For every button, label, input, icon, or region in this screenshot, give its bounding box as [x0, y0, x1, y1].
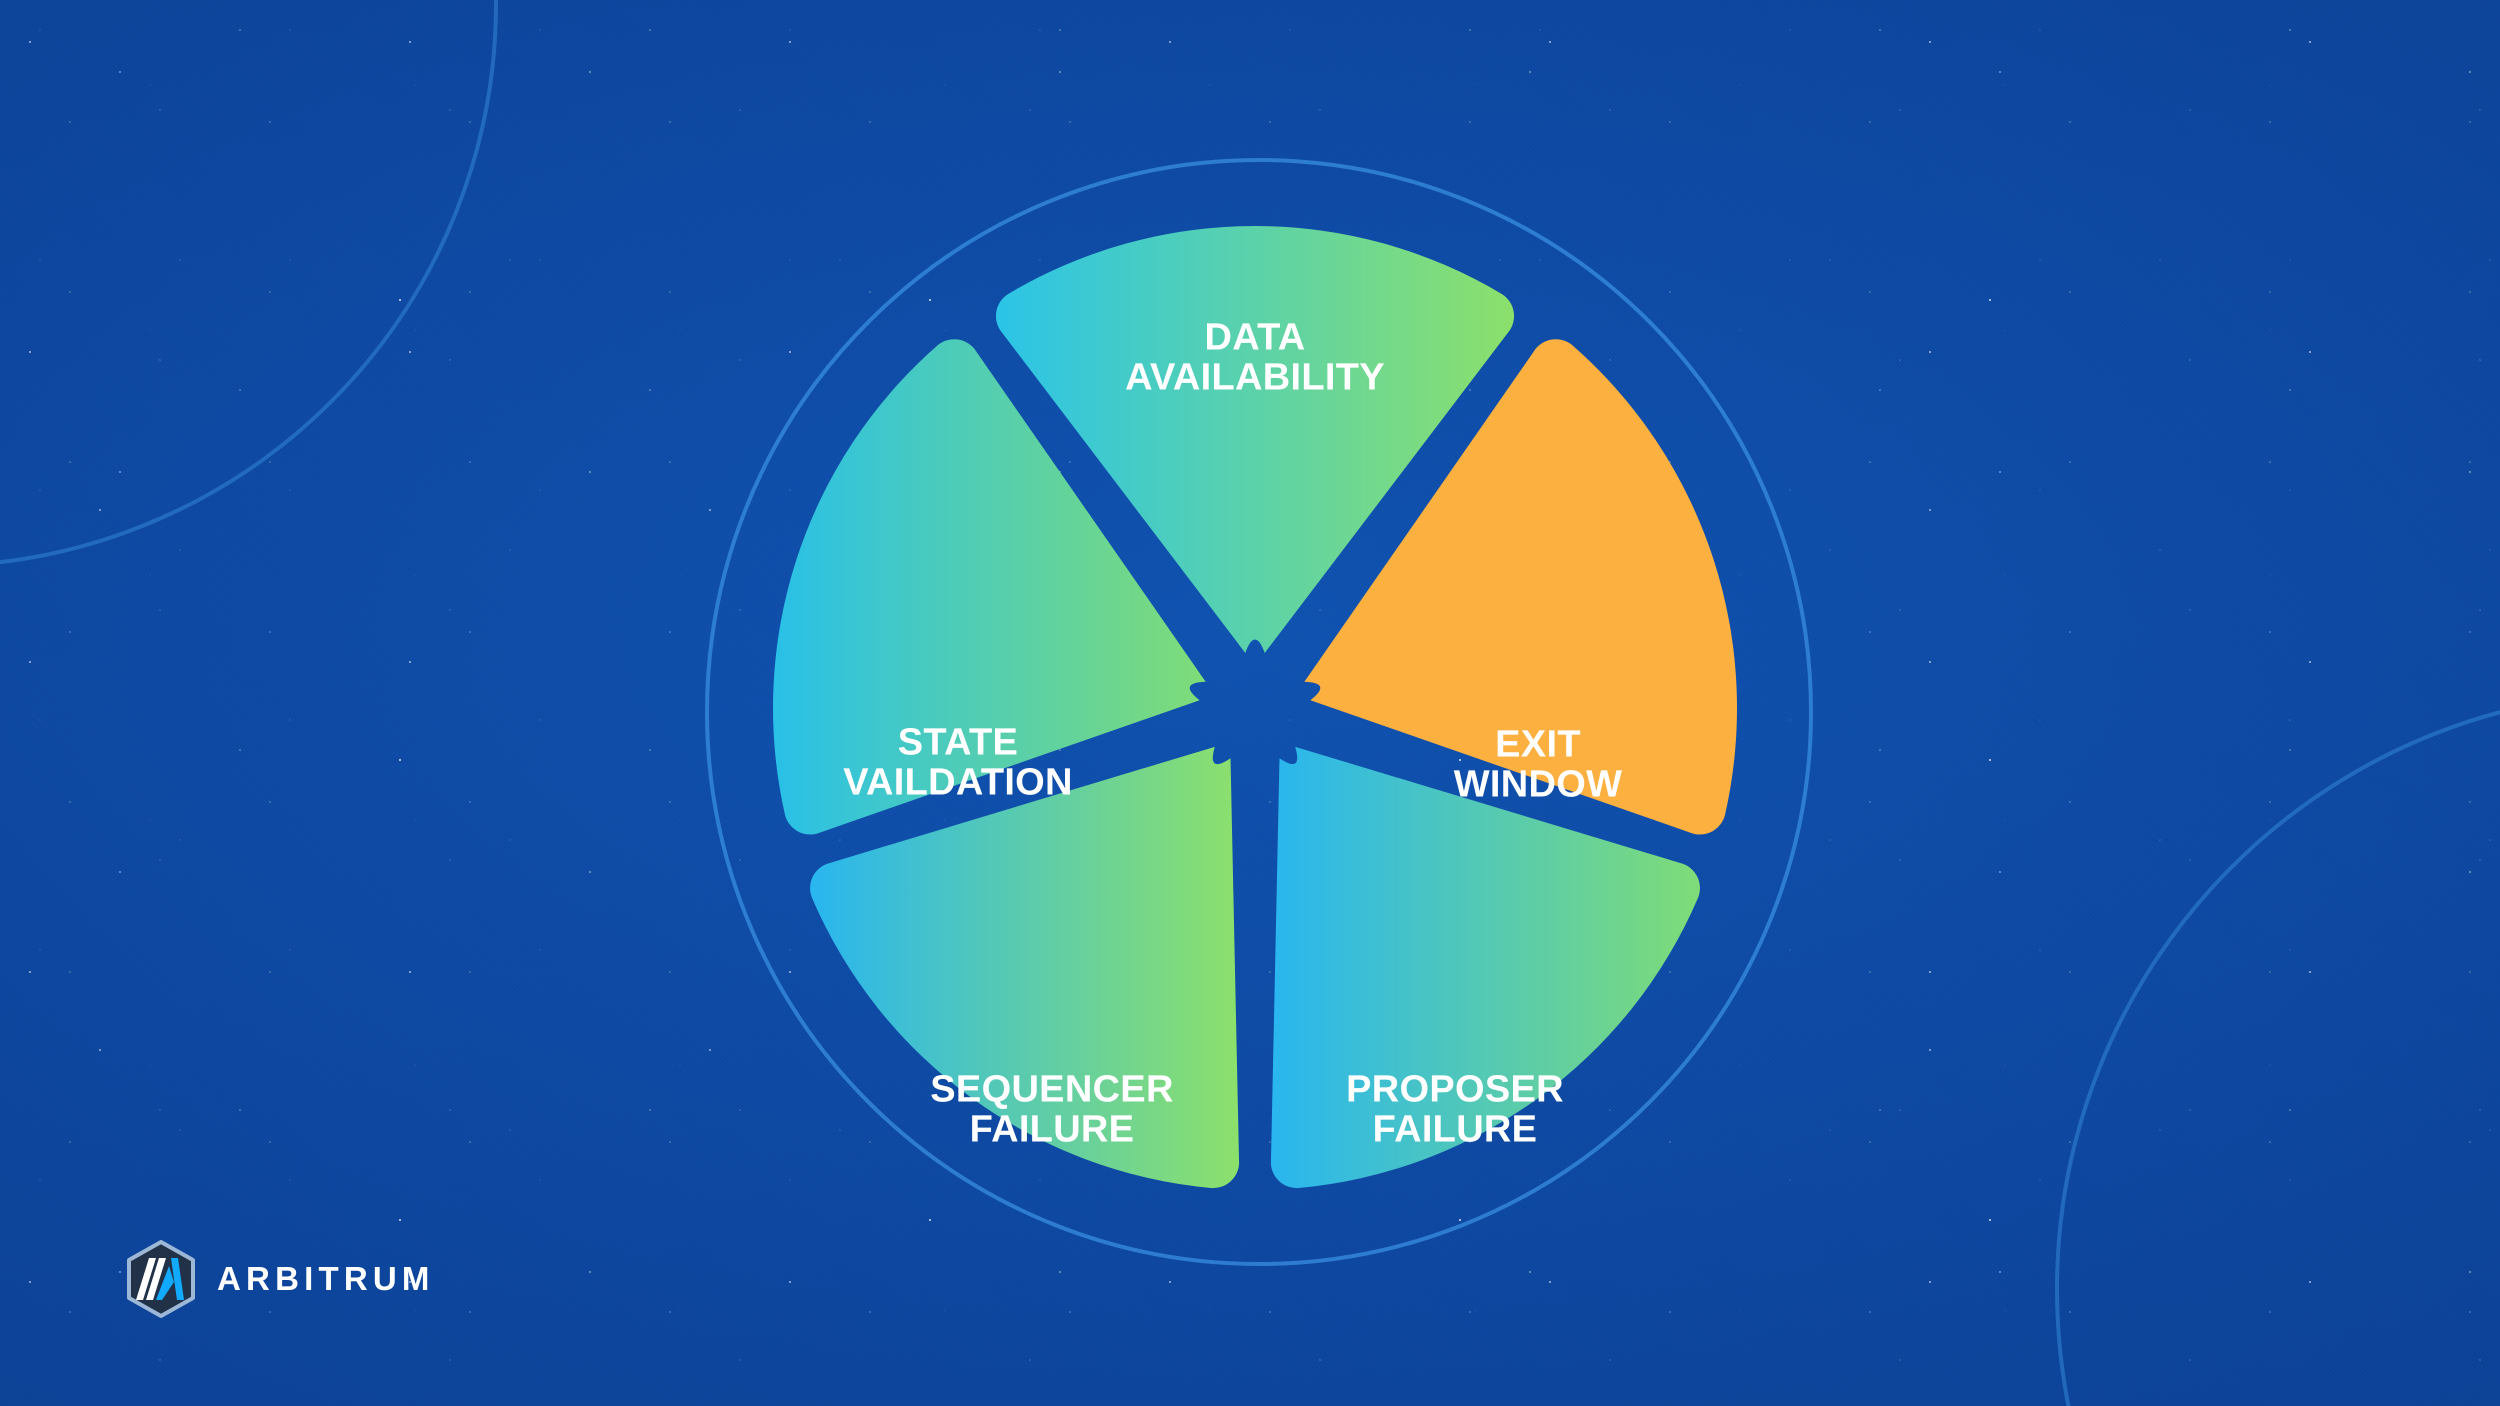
arbitrum-wordmark: ARBITRUM: [217, 1260, 435, 1298]
arbitrum-logo[interactable]: ARBITRUM: [125, 1240, 435, 1318]
pie-slices: [735, 188, 1775, 1228]
arbitrum-hexagon-logo-icon: [125, 1240, 197, 1318]
poster-canvas: DATA AVAILABILITY EXIT WINDOW PROPOSER F…: [0, 0, 2500, 1406]
